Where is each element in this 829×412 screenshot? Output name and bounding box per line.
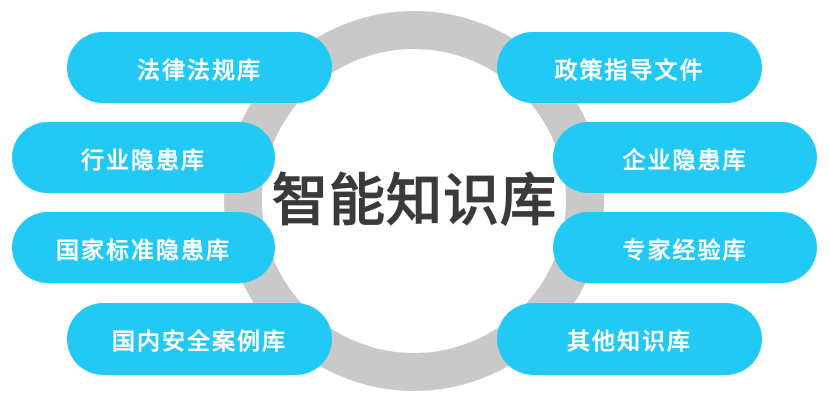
node-label: 法律法规库 <box>137 51 262 85</box>
node-label: 政策指导文件 <box>555 51 705 85</box>
node-policy-guidance-document[interactable]: 政策指导文件 <box>497 32 762 103</box>
node-label: 国内安全案例库 <box>112 322 287 356</box>
node-label: 专家经验库 <box>623 231 748 265</box>
node-law-regulation-library[interactable]: 法律法规库 <box>67 32 332 103</box>
knowledge-base-diagram: 法律法规库 行业隐患库 国家标准隐患库 国内安全案例库 政策指导文件 企业隐患库… <box>0 0 829 412</box>
node-other-knowledge-library[interactable]: 其他知识库 <box>497 303 762 375</box>
node-label: 其他知识库 <box>567 322 692 356</box>
node-label: 国家标准隐患库 <box>56 231 231 265</box>
node-domestic-safety-case-library[interactable]: 国内安全案例库 <box>67 303 332 375</box>
center-hub-title: 智能知识库 <box>0 168 829 234</box>
